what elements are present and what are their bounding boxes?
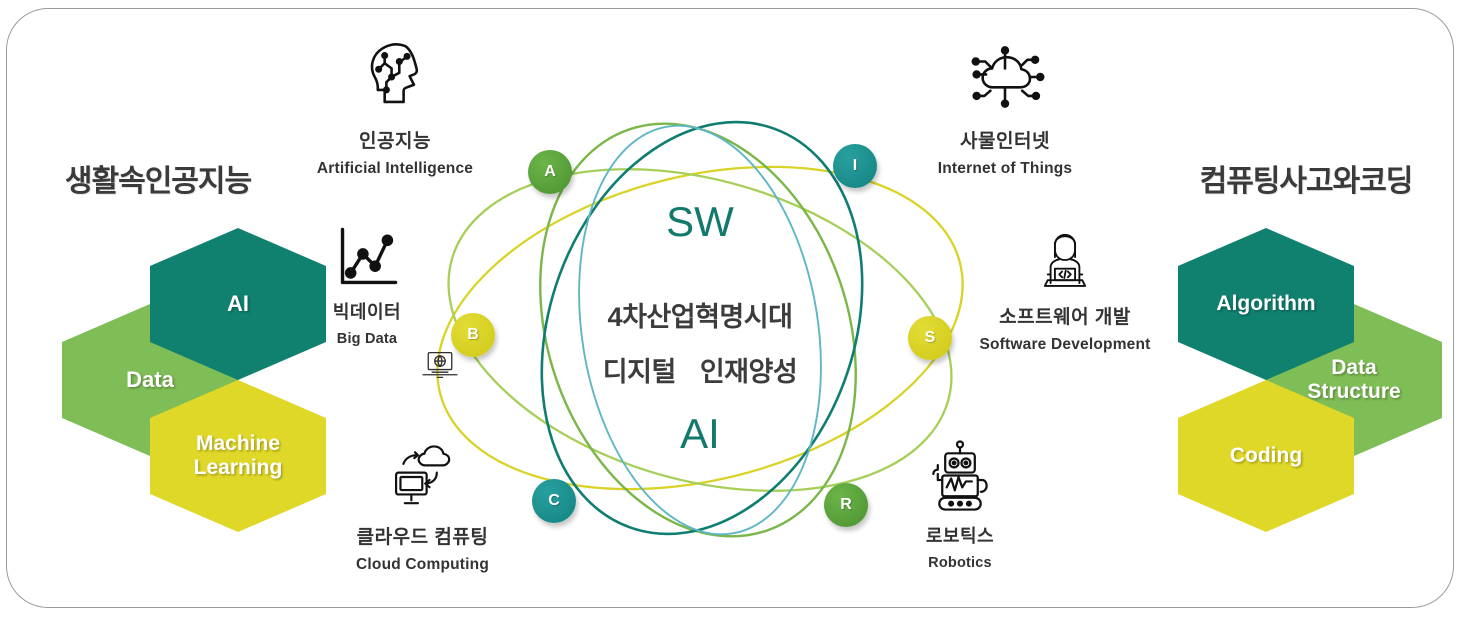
center-headline-word-talent: 인재양성 <box>700 350 797 389</box>
hex-coding-label: Coding <box>1230 444 1302 468</box>
badge-b-letter: B <box>467 326 479 344</box>
badge-c-letter: C <box>548 492 560 510</box>
badge-i-letter: I <box>853 157 857 175</box>
center-headline-word-digital: 디지털 <box>603 350 676 389</box>
badge-b[interactable]: B <box>451 313 495 357</box>
right-section-title: 컴퓨팅사고와코딩 <box>1166 156 1446 200</box>
hex-ml-label-line2: Learning <box>194 456 283 480</box>
hex-data-label: Data <box>126 368 174 393</box>
badge-s[interactable]: S <box>908 316 952 360</box>
brain-circuit-head-icon <box>280 28 510 120</box>
badge-s-letter: S <box>925 329 936 347</box>
pillar-robotics-en-label: Robotics <box>865 555 1055 571</box>
center-label-ai: AI <box>420 410 980 458</box>
center-headline-line1: 4차산업혁명시대 <box>420 295 980 334</box>
hex-ai-label: AI <box>227 292 249 317</box>
center-label-sw: SW <box>420 198 980 246</box>
center-headline-line2: 디지털 인재양성 <box>420 350 980 389</box>
badge-r[interactable]: R <box>824 483 868 527</box>
developer-laptop-icon <box>955 222 1175 296</box>
badge-r-letter: R <box>840 496 852 514</box>
pillar-software-development[interactable]: 소프트웨어 개발 Software Development <box>955 222 1175 354</box>
left-section-title: 생활속인공지능 <box>28 156 288 200</box>
pillar-swdev-en-label: Software Development <box>955 336 1175 354</box>
badge-a-letter: A <box>544 163 556 181</box>
pillar-swdev-ko-label: 소프트웨어 개발 <box>955 302 1175 329</box>
hex-algorithm-label: Algorithm <box>1216 292 1315 316</box>
orbit-ellipses-group: SW 4차산업혁명시대 디지털 인재양성 AI <box>420 110 980 550</box>
badge-c[interactable]: C <box>532 479 576 523</box>
hex-ds-label-line1: Data <box>1307 356 1400 380</box>
badge-i[interactable]: I <box>833 144 877 188</box>
pillar-cloud-en-label: Cloud Computing <box>310 556 535 574</box>
cloud-network-icon <box>890 28 1120 120</box>
diagram-canvas: 생활속인공지능 Data AI Machine Learning 컴퓨팅사고와코… <box>0 0 1462 627</box>
badge-a[interactable]: A <box>528 150 572 194</box>
hex-ml-label-line1: Machine <box>194 432 283 456</box>
hex-ds-label-line2: Structure <box>1307 380 1400 404</box>
